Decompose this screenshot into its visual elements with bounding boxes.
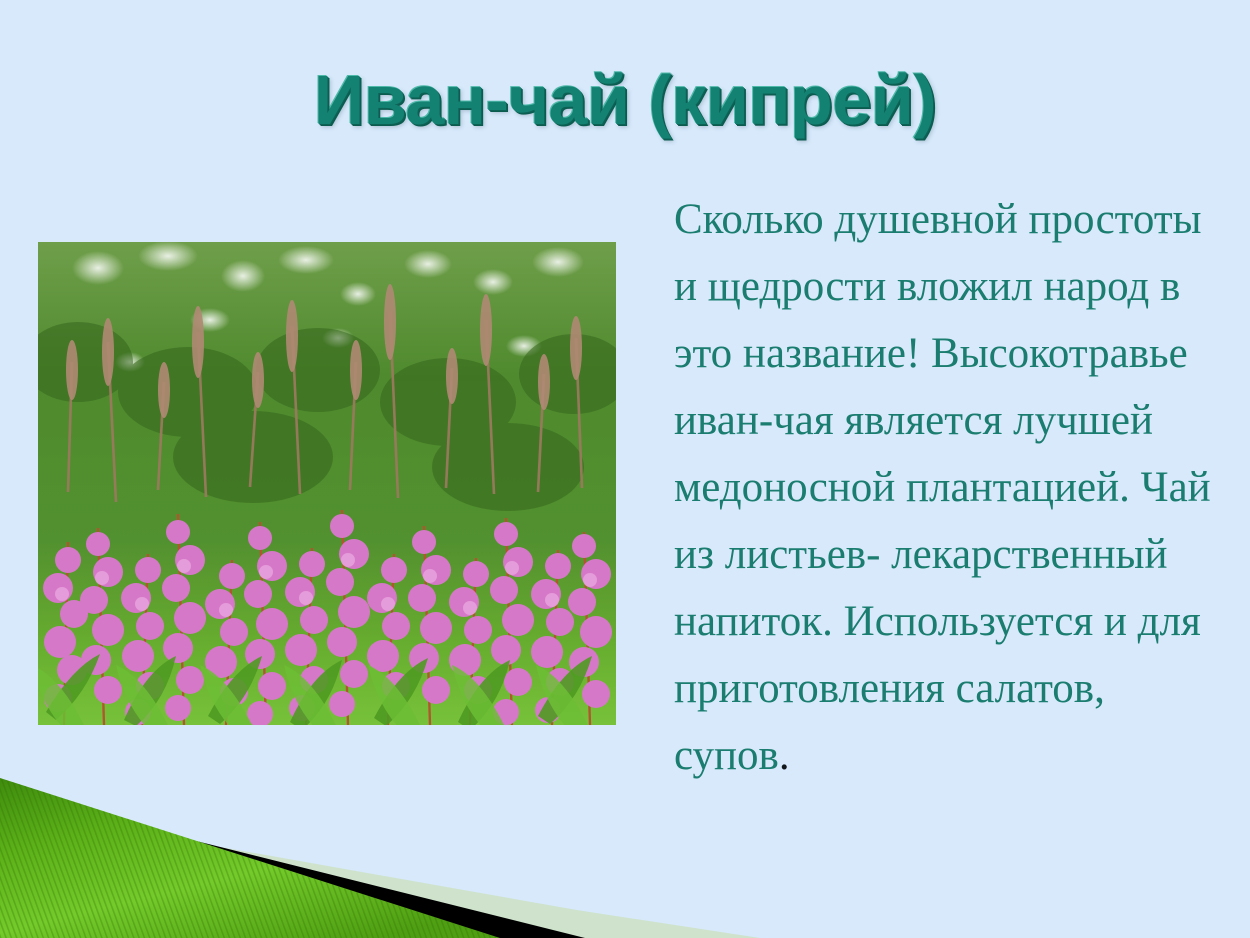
green-band xyxy=(0,778,500,938)
pale-green-band-upper xyxy=(0,808,735,938)
black-band xyxy=(0,792,585,938)
fireweed-photo-illustration xyxy=(38,242,616,725)
body-paragraph-final-period: . xyxy=(779,732,790,779)
green-band-texture xyxy=(0,778,500,938)
fireweed-photo xyxy=(38,242,616,725)
body-paragraph-text: Сколько душевной простоты и щедрости вло… xyxy=(674,196,1211,779)
presentation-slide: Иван-чай (кипрей) xyxy=(0,0,1250,938)
body-paragraph: Сколько душевной простоты и щедрости вло… xyxy=(674,186,1214,789)
page-title: Иван-чай (кипрей) xyxy=(0,64,1250,138)
pale-green-band xyxy=(0,822,760,938)
